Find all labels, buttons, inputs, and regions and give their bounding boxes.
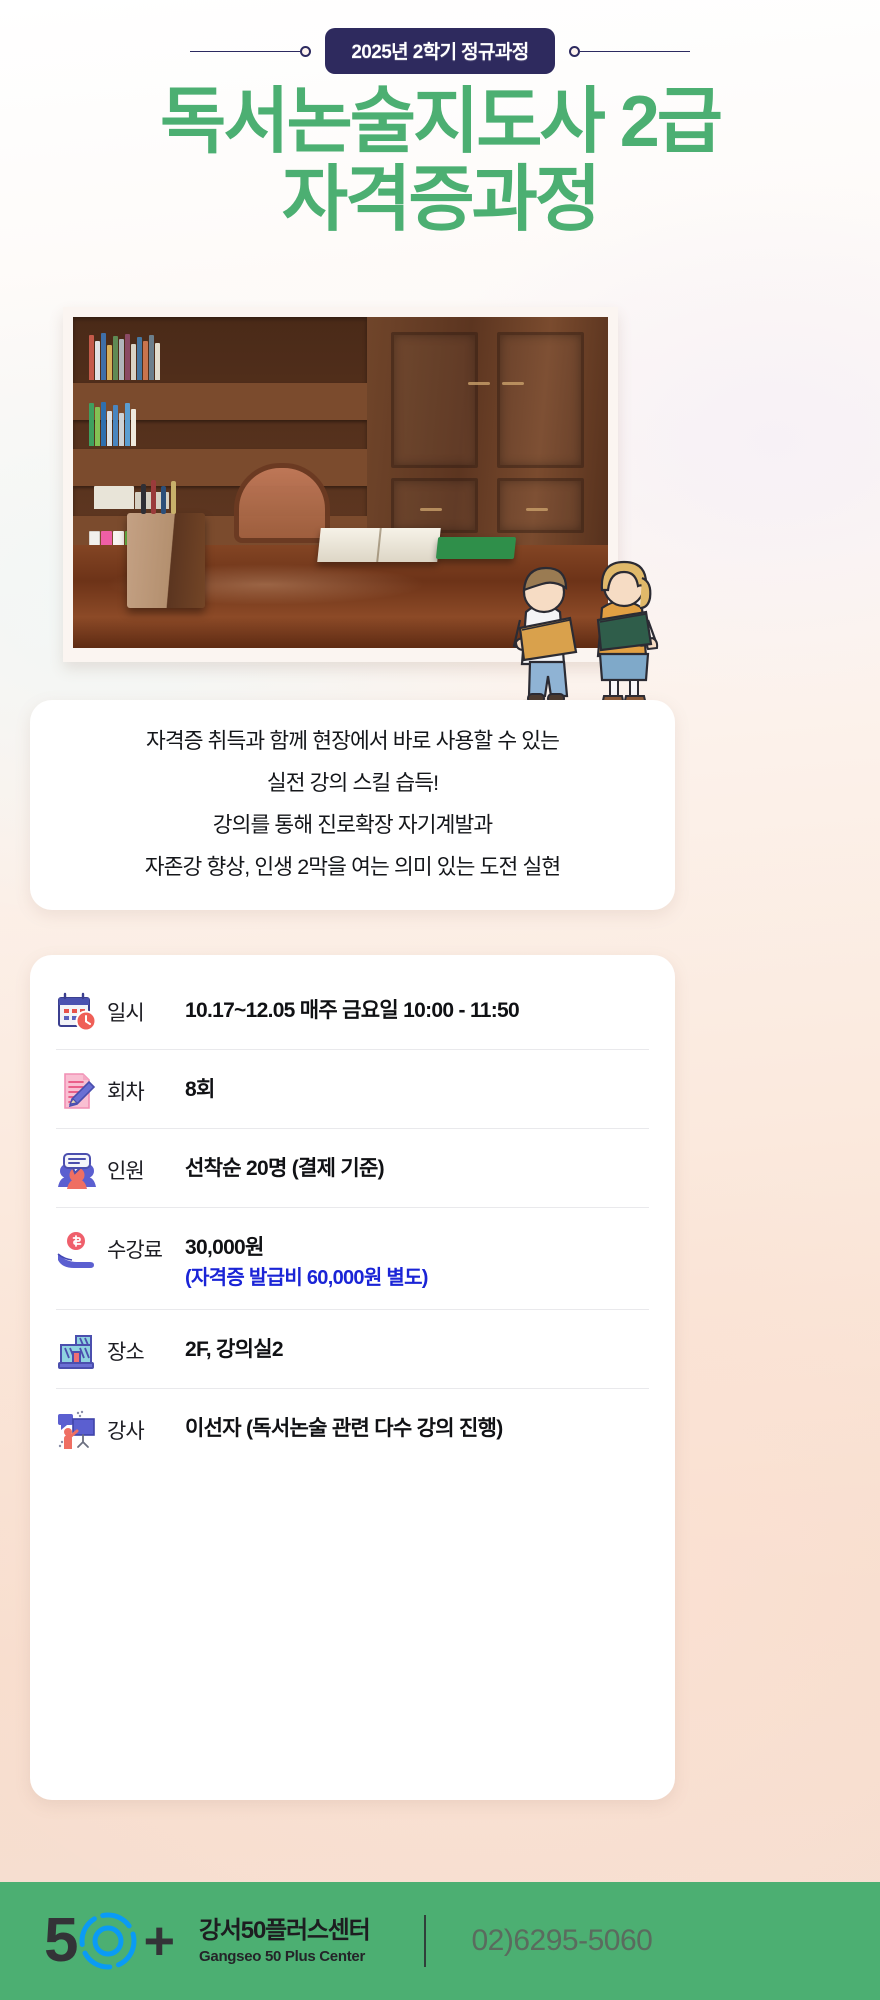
info-label-capacity: 인원 xyxy=(107,1147,185,1185)
title-line-1: 독서논술지도사 2급 xyxy=(0,84,880,162)
info-label-fee: 수강료 xyxy=(107,1226,185,1264)
center-name-ko: 강서50플러스센터 xyxy=(199,1917,369,1946)
leather-pen-holder xyxy=(127,513,205,608)
info-row-location: 장소 2F, 강의실2 xyxy=(56,1310,649,1389)
logo-digit-five: 5 xyxy=(44,1910,76,1972)
info-value-fee: 30,000원 (자격증 발급비 60,000원 별도) xyxy=(185,1226,428,1293)
info-row-date: 일시 10.17~12.05 매주 금요일 10:00 - 11:50 xyxy=(56,971,649,1050)
info-row-capacity: 인원 선착순 20명 (결제 기준) xyxy=(56,1129,649,1208)
info-value-sessions: 8회 xyxy=(185,1068,215,1105)
instructor-board-icon xyxy=(56,1409,98,1451)
title-line-2: 자격증과정 xyxy=(0,162,880,240)
book-row-3 xyxy=(94,473,169,509)
info-row-sessions: 회차 8회 xyxy=(56,1050,649,1129)
badge-dot-right xyxy=(569,46,580,57)
info-value-date-text: 10.17~12.05 매주 금요일 10:00 - 11:50 xyxy=(185,996,519,1026)
center-name-block: 강서50플러스센터 Gangseo 50 Plus Center xyxy=(199,1917,369,1966)
book-row-2 xyxy=(89,400,136,446)
center-name-en: Gangseo 50 Plus Center xyxy=(199,1948,369,1965)
info-value-instructor-text: 이선자 (독서논술 관련 다수 강의 진행) xyxy=(185,1414,503,1444)
document-pencil-icon xyxy=(56,1070,98,1112)
info-label-instructor: 강사 xyxy=(107,1407,185,1445)
course-term-badge: 2025년 2학기 정규과정 xyxy=(325,28,554,74)
calendar-clock-icon xyxy=(56,991,98,1033)
info-value-capacity-text: 선착순 20명 (결제 기준) xyxy=(185,1154,384,1184)
info-value-instructor: 이선자 (독서논술 관련 다수 강의 진행) xyxy=(185,1407,503,1444)
description-line-4: 자존강 향상, 인생 2막을 여는 의미 있는 도전 실현 xyxy=(145,847,560,889)
footer-bar: 5 + 강서50플러스센터 Gangseo 50 Plus Center 02)… xyxy=(0,1882,880,2000)
info-label-sessions: 회차 xyxy=(107,1068,185,1106)
badge-line-left xyxy=(190,51,300,52)
logo-plus-sign: + xyxy=(143,1914,175,1968)
info-value-capacity: 선착순 20명 (결제 기준) xyxy=(185,1147,384,1184)
info-value-location: 2F, 강의실2 xyxy=(185,1328,283,1365)
course-info-card: 일시 10.17~12.05 매주 금요일 10:00 - 11:50 xyxy=(30,955,675,1800)
badge-line-right xyxy=(580,51,690,52)
description-line-3: 강의를 통해 진로확장 자기계발과 xyxy=(213,805,493,847)
book-row-1 xyxy=(89,330,160,380)
open-book-on-desk xyxy=(317,528,441,562)
info-value-date: 10.17~12.05 매주 금요일 10:00 - 11:50 xyxy=(185,989,519,1026)
badge-dot-left xyxy=(300,46,311,57)
character-boy xyxy=(514,568,576,710)
gangseo-50plus-logo: 5 + xyxy=(44,1910,175,1972)
character-girl xyxy=(594,562,657,712)
contact-phone: 02)6295-5060 xyxy=(472,1924,653,1958)
footer-divider xyxy=(424,1915,426,1967)
poster-root: 2025년 2학기 정규과정 독서논술지도사 2급 자격증과정 xyxy=(0,0,880,2000)
info-value-fee-note: (자격증 발급비 60,000원 별도) xyxy=(185,1263,428,1293)
info-label-date: 일시 xyxy=(107,989,185,1027)
page-title: 독서논술지도사 2급 자격증과정 xyxy=(0,84,880,240)
info-row-fee: 수강료 30,000원 (자격증 발급비 60,000원 별도) xyxy=(56,1208,649,1310)
hand-money-icon xyxy=(56,1228,98,1270)
info-label-location: 장소 xyxy=(107,1328,185,1366)
info-value-fee-text: 30,000원 xyxy=(185,1233,428,1263)
description-card: 자격증 취득과 함께 현장에서 바로 사용할 수 있는 실전 강의 스킬 습득!… xyxy=(30,700,675,910)
office-chair xyxy=(234,463,330,543)
info-row-instructor: 강사 이선자 (독서논술 관련 다수 강의 진행) xyxy=(56,1389,649,1467)
description-line-2: 실전 강의 스킬 습득! xyxy=(267,763,438,805)
description-line-1: 자격증 취득과 함께 현장에서 바로 사용할 수 있는 xyxy=(146,721,559,763)
people-group-icon xyxy=(56,1149,98,1191)
logo-circle-o xyxy=(77,1910,139,1972)
building-icon xyxy=(56,1330,98,1372)
info-value-location-text: 2F, 강의실2 xyxy=(185,1335,283,1365)
header-badge-row: 2025년 2학기 정규과정 xyxy=(0,28,880,74)
info-value-sessions-text: 8회 xyxy=(185,1075,215,1105)
reading-characters-illustration xyxy=(490,516,690,716)
